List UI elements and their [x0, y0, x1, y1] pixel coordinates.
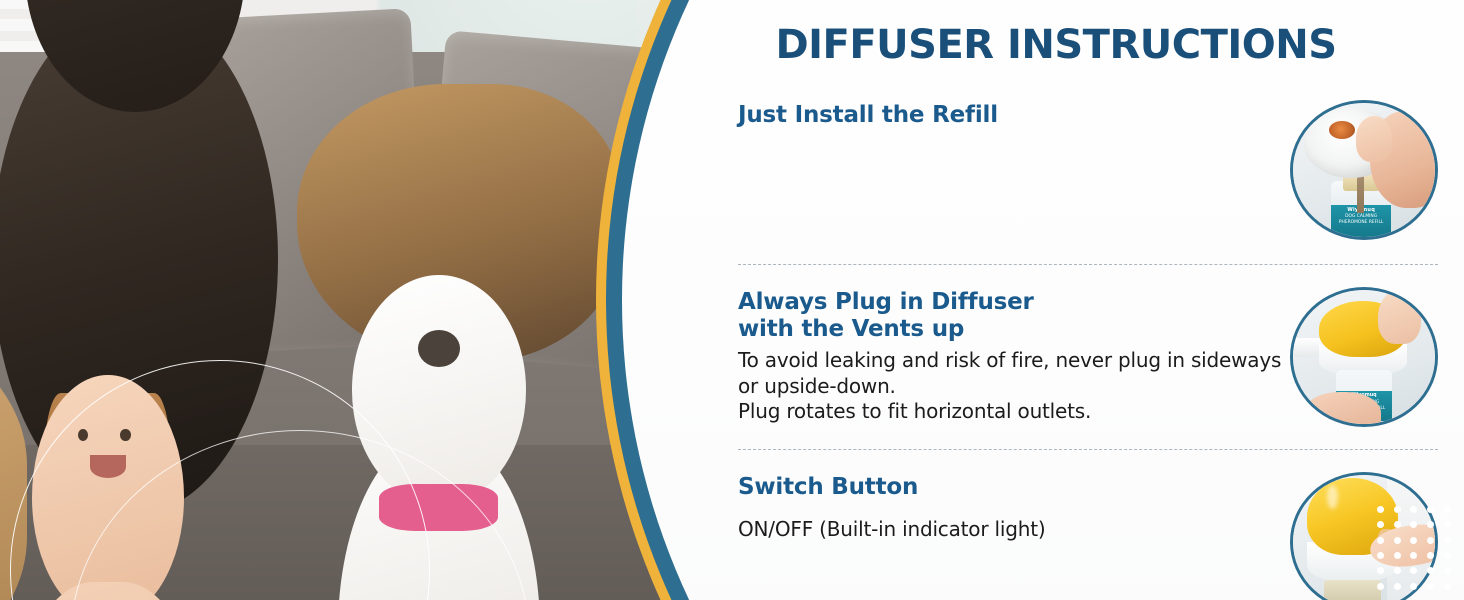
step-2-body: To avoid leaking and risk of fire, never… — [738, 348, 1282, 424]
refill-label-line2: PHEROMONE REFILL — [1331, 220, 1391, 226]
step-2-heading: Always Plug in Diffuser with the Vents u… — [738, 289, 1282, 342]
switch-button-photo — [1290, 472, 1438, 600]
step-3-body: ON/OFF (Built-in indicator light) — [738, 517, 1282, 542]
page-title: DIFFUSER INSTRUCTIONS — [700, 22, 1412, 68]
refill-install-photo: Wiyomuq DOG CALMING PHEROMONE REFILL — [1290, 100, 1438, 240]
instruction-panel-content: DIFFUSER INSTRUCTIONS Just Install the R… — [700, 0, 1464, 600]
section-divider — [738, 449, 1438, 450]
section-divider — [738, 264, 1438, 265]
diffuser-cap-core — [1329, 121, 1355, 139]
step-1-heading: Just Install the Refill — [738, 102, 1282, 129]
hand — [1304, 392, 1381, 427]
instruction-step-1: Just Install the Refill Wiyomuq DOG CALM… — [738, 100, 1438, 240]
instruction-steps: Just Install the Refill Wiyomuq DOG CALM… — [738, 100, 1438, 600]
step-3-heading: Switch Button — [738, 474, 1282, 501]
instruction-step-2: Always Plug in Diffuser with the Vents u… — [738, 287, 1438, 427]
finger — [1378, 290, 1421, 344]
vents-up-photo: Wiyomuq DOG CALMING PHEROMONE REFILL — [1290, 287, 1438, 427]
finger — [1356, 116, 1393, 162]
refill-bottle — [1324, 580, 1381, 600]
instruction-step-3: Switch Button ON/OFF (Built-in indicator… — [738, 472, 1438, 600]
instruction-banner: DIFFUSER INSTRUCTIONS Just Install the R… — [0, 0, 1464, 600]
